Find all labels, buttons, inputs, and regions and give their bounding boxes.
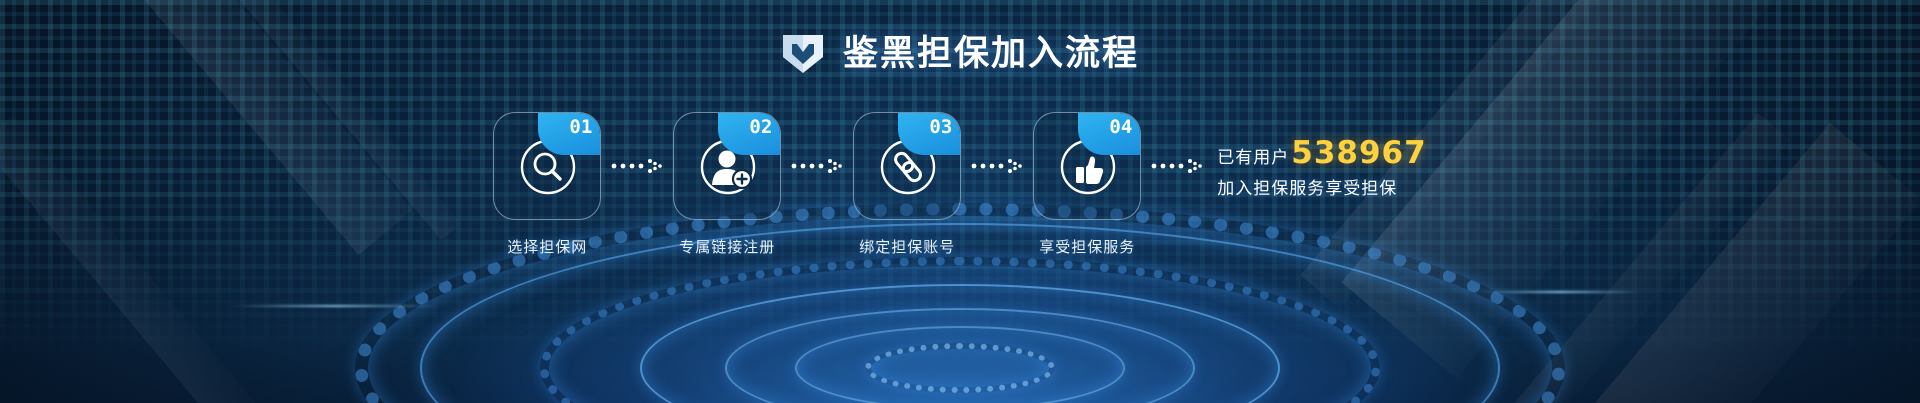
step-card-3[interactable]: 03 [853,112,961,220]
step-number-4: 04 [1109,113,1140,137]
light-streak-right [1480,291,1640,293]
step-label-3: 绑定担保账号 [853,236,961,257]
counter-line-2: 加入担保服务享受担保 [1217,174,1426,199]
step-badge-4: 04 [1078,113,1140,155]
step-card-4[interactable]: 04 [1033,112,1141,220]
steps-flow: 01 选择担保网 [0,112,1920,257]
light-streak-left [230,305,440,307]
banner-title-row: 鉴黑担保加入流程 [0,33,1920,75]
step-item-4[interactable]: 04 享受担保服务 [1033,112,1141,257]
disc-ring-5 [725,308,1195,403]
step-item-3[interactable]: 03 绑定担保账号 [853,112,961,257]
dotted-arrow-icon-1 [601,112,673,220]
step-number-1: 01 [569,113,600,137]
step-badge-3: 03 [898,113,960,155]
dotted-arrow-icon-3 [961,112,1033,220]
user-counter-block: 已有用户 538967 加入担保服务享受担保 [1217,112,1426,199]
promo-banner: 鉴黑担保加入流程 01 选择担保网 [0,0,1920,403]
step-card-1[interactable]: 01 [493,112,601,220]
step-label-1: 选择担保网 [493,236,601,257]
step-item-1[interactable]: 01 选择担保网 [493,112,601,257]
step-label-4: 享受担保服务 [1033,236,1141,257]
disc-ring-4 [640,284,1280,403]
step-item-2[interactable]: 02 专属链接注册 [673,112,781,257]
step-card-2[interactable]: 02 [673,112,781,220]
disc-ring-6 [795,326,1125,403]
counter-prefix-label: 已有用户 [1217,143,1289,168]
step-badge-1: 01 [538,113,600,155]
dotted-arrow-icon-2 [781,112,853,220]
disc-ring-3 [540,257,1380,403]
disc-glow [460,247,1460,403]
dotted-arrow-icon-4 [1141,112,1213,220]
disc-ring-7 [865,343,1055,393]
shield-m-logo-icon [781,33,825,75]
counter-value: 538967 [1291,138,1426,169]
step-badge-2: 02 [718,113,780,155]
counter-line-1: 已有用户 538967 [1217,138,1426,169]
step-number-2: 02 [749,113,780,137]
page-title: 鉴黑担保加入流程 [843,37,1139,72]
step-number-3: 03 [929,113,960,137]
step-label-2: 专属链接注册 [673,236,781,257]
